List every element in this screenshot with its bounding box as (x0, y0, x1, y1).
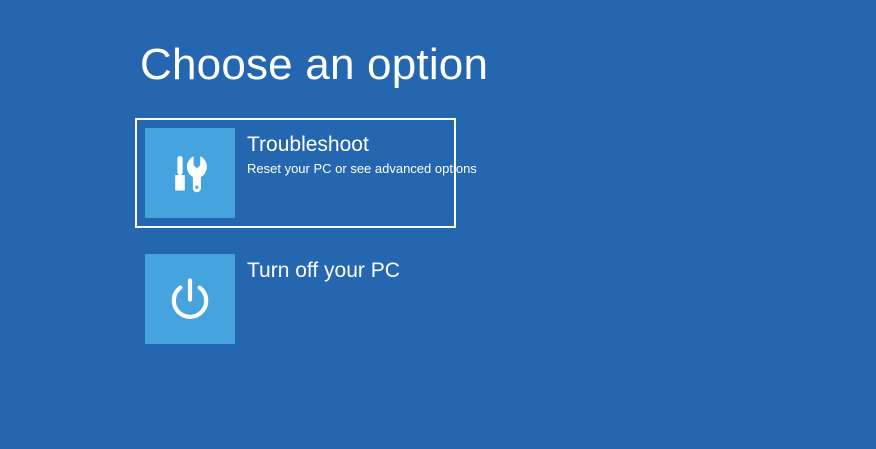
recovery-choose-option-screen: Choose an option Troubleshoot (0, 0, 876, 449)
screwdriver-wrench-icon (164, 147, 216, 199)
option-text-troubleshoot: Troubleshoot Reset your PC or see advanc… (235, 128, 446, 178)
page-title: Choose an option (140, 36, 488, 94)
option-text-turn-off: Turn off your PC (235, 254, 446, 285)
options-list: Troubleshoot Reset your PC or see advanc… (135, 118, 835, 354)
option-turn-off-your-pc[interactable]: Turn off your PC (135, 244, 456, 354)
option-icon-turn-off (145, 254, 235, 344)
option-title: Turn off your PC (247, 257, 446, 285)
option-troubleshoot[interactable]: Troubleshoot Reset your PC or see advanc… (135, 118, 456, 228)
option-title: Troubleshoot (247, 131, 446, 159)
option-icon-troubleshoot (145, 128, 235, 218)
option-subtitle: Reset your PC or see advanced options (247, 160, 446, 178)
options-spacer (135, 228, 835, 244)
power-icon (164, 273, 216, 325)
